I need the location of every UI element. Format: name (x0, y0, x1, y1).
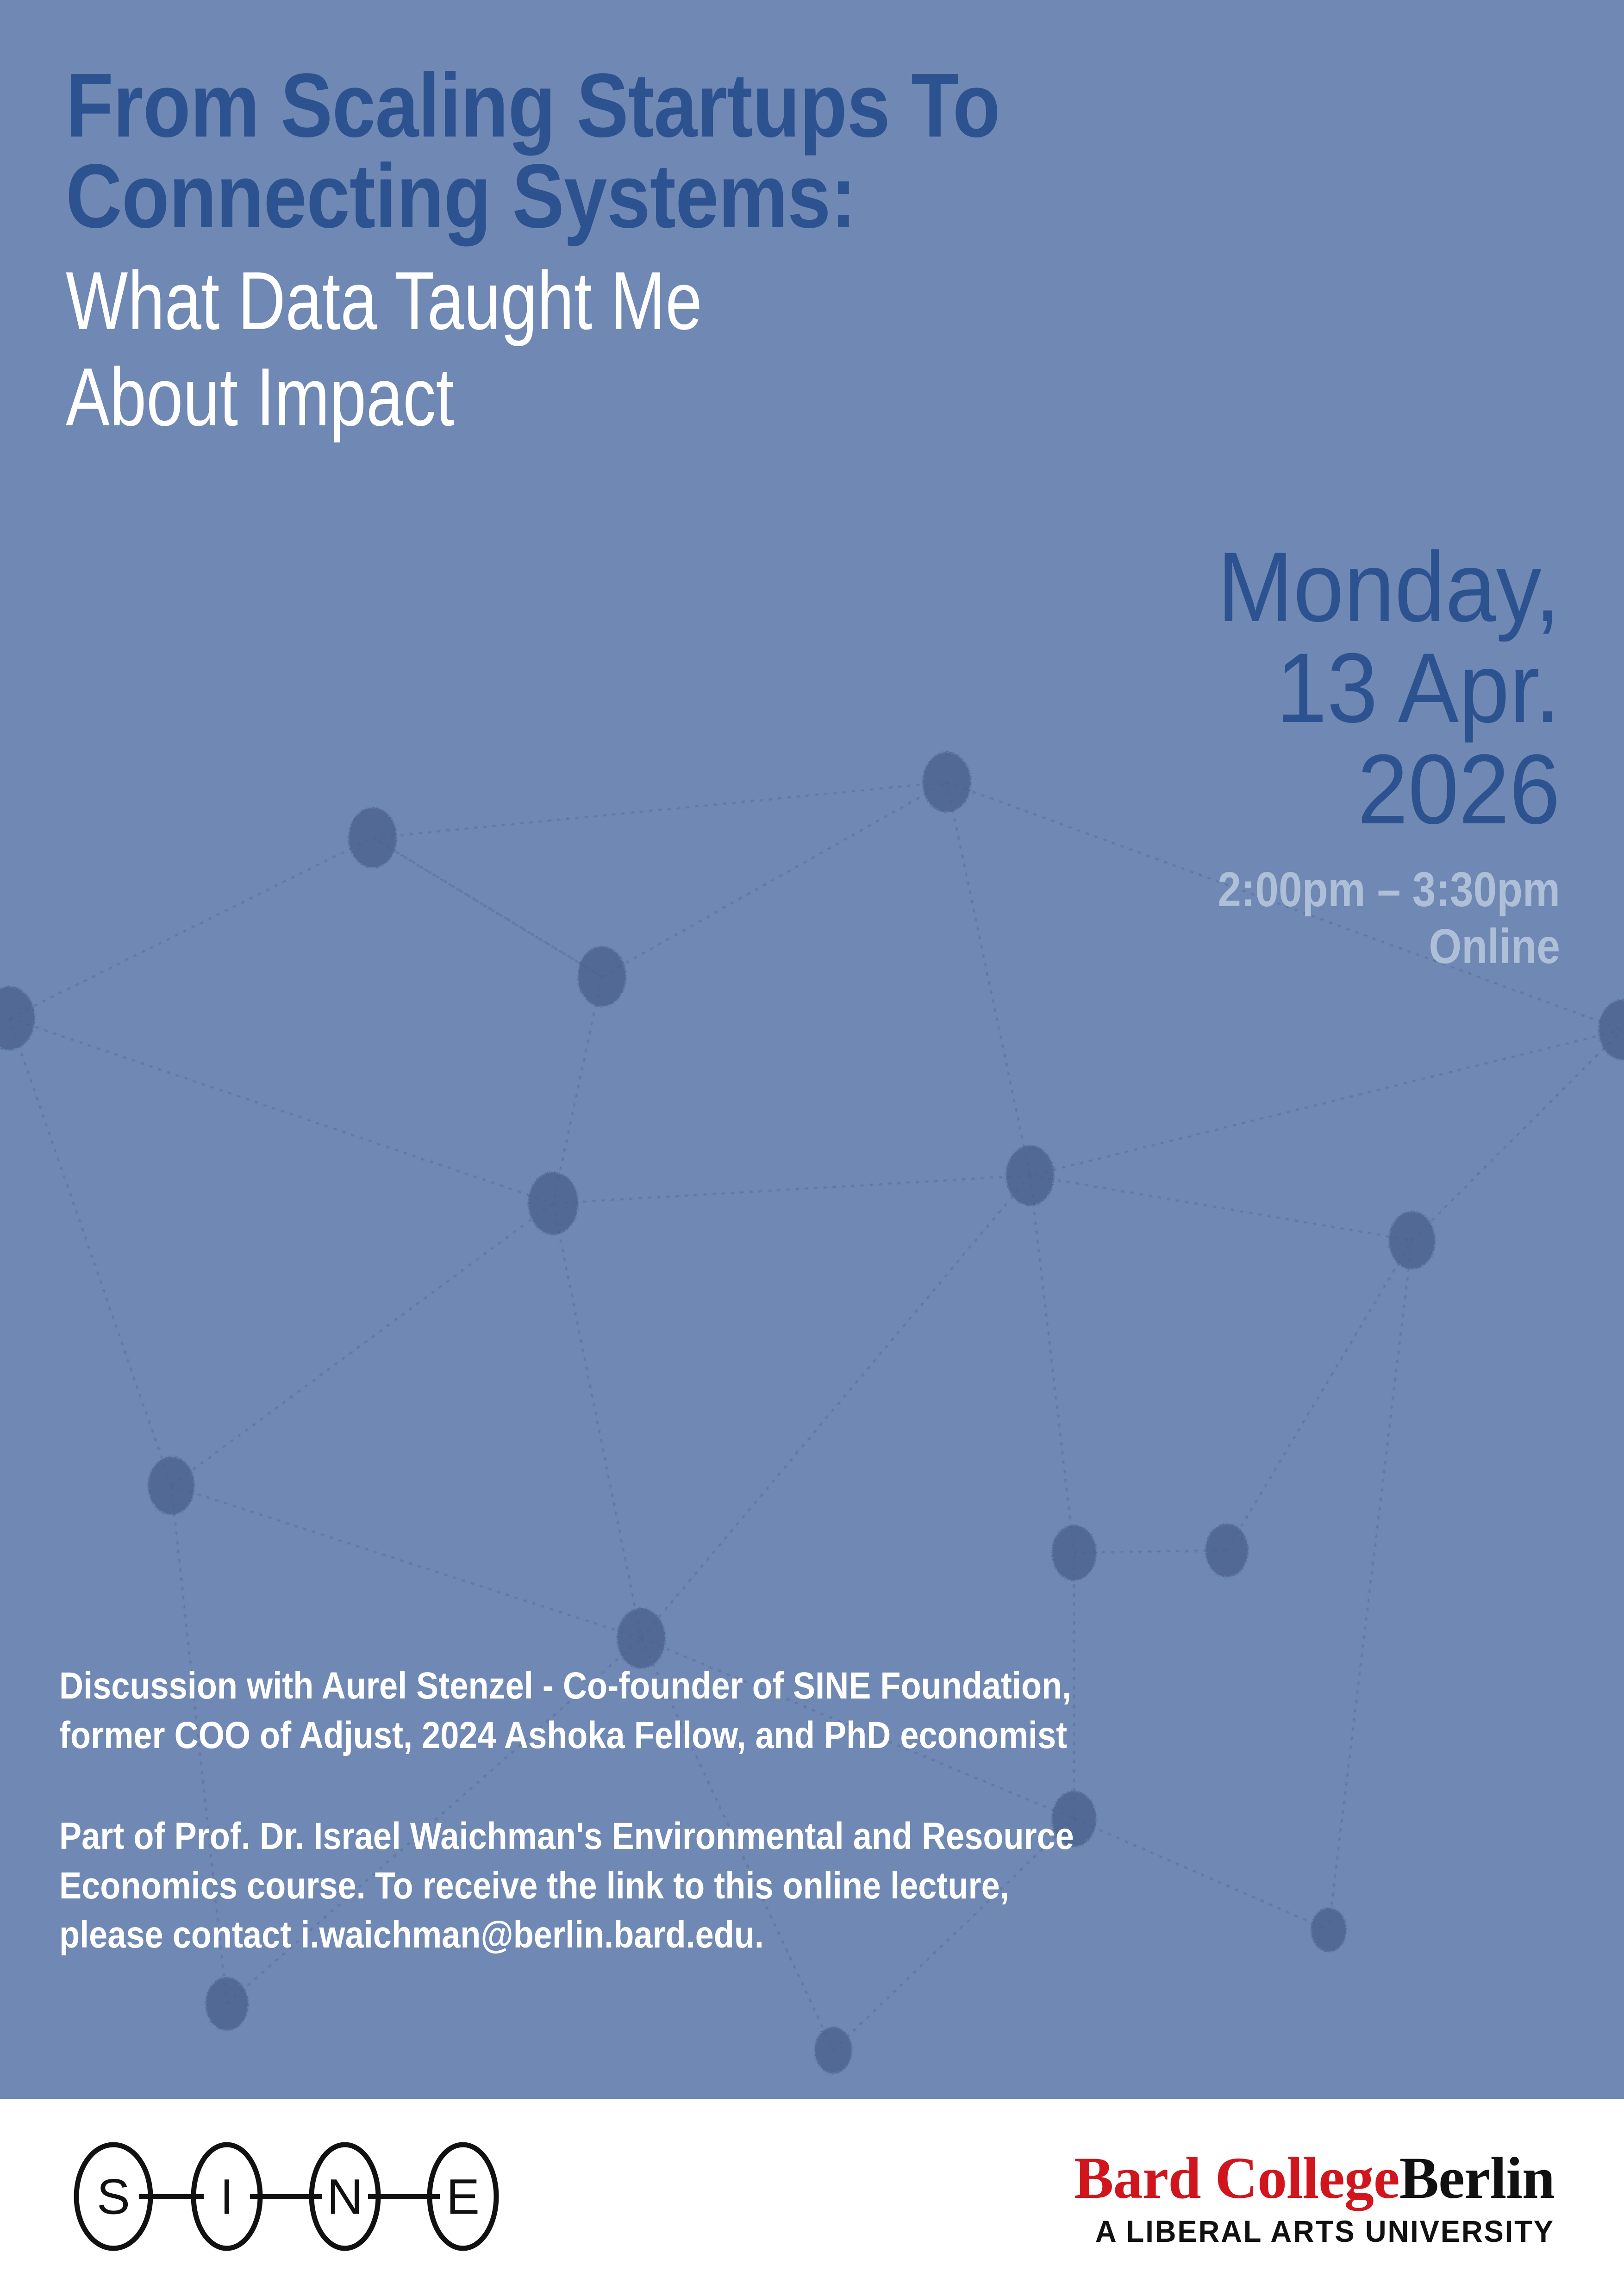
speaker-paragraph: Discussion with Aurel Stenzel - Co-found… (59, 1661, 1363, 1760)
course-paragraph: Part of Prof. Dr. Israel Waichman's Envi… (59, 1812, 1363, 1960)
poster-title-line-2: Connecting Systems: (66, 151, 1220, 242)
event-date-block: Monday, 13 Apr. 2026 2:00pm – 3:30pm Onl… (866, 537, 1560, 974)
poster-subtitle-line-2: About Impact (66, 349, 1140, 445)
bard-wordmark: Bard CollegeBerlin (1074, 2148, 1555, 2208)
bard-tagline: A LIBERAL ARTS UNIVERSITY (1093, 2216, 1555, 2246)
sine-logo-icon: S I N E (69, 2141, 532, 2252)
course-line-1: Part of Prof. Dr. Israel Waichman's Envi… (59, 1812, 1363, 1861)
sine-letter-e: E (446, 2168, 480, 2224)
bard-wordmark-red: Bard College (1074, 2145, 1399, 2211)
body-copy-block: Discussion with Aurel Stenzel - Co-found… (59, 1661, 1541, 1960)
event-date: 13 Apr. (921, 638, 1560, 739)
speaker-line-1: Discussion with Aurel Stenzel - Co-found… (59, 1661, 1363, 1711)
event-time: 2:00pm – 3:30pm (963, 862, 1560, 917)
headline-block: From Scaling Startups To Connecting Syst… (66, 60, 1408, 446)
sine-letter-i: I (220, 2168, 234, 2224)
sine-letter-s: S (97, 2168, 130, 2224)
event-location: Online (963, 919, 1560, 974)
speaker-line-2: former COO of Adjust, 2024 Ashoka Fellow… (59, 1711, 1363, 1761)
contact-email-line: please contact i.waichman@berlin.bard.ed… (59, 1910, 1363, 1960)
poster-canvas: From Scaling Startups To Connecting Syst… (0, 0, 1624, 2296)
bard-wordmark-black: Berlin (1399, 2145, 1555, 2211)
sine-letter-n: N (327, 2168, 363, 2224)
poster-title-line-1: From Scaling Startups To (66, 60, 1220, 151)
course-line-2: Economics course. To receive the link to… (59, 1861, 1363, 1911)
poster-subtitle-line-1: What Data Taught Me (66, 253, 1140, 349)
event-year: 2026 (921, 739, 1560, 840)
bard-college-berlin-logo: Bard CollegeBerlin A LIBERAL ARTS UNIVER… (1074, 2148, 1555, 2246)
footer-bar: S I N E Bard CollegeBerlin A LIBERAL ART… (0, 2099, 1624, 2296)
sine-foundation-logo: S I N E (69, 2141, 532, 2254)
event-day: Monday, (921, 537, 1560, 638)
